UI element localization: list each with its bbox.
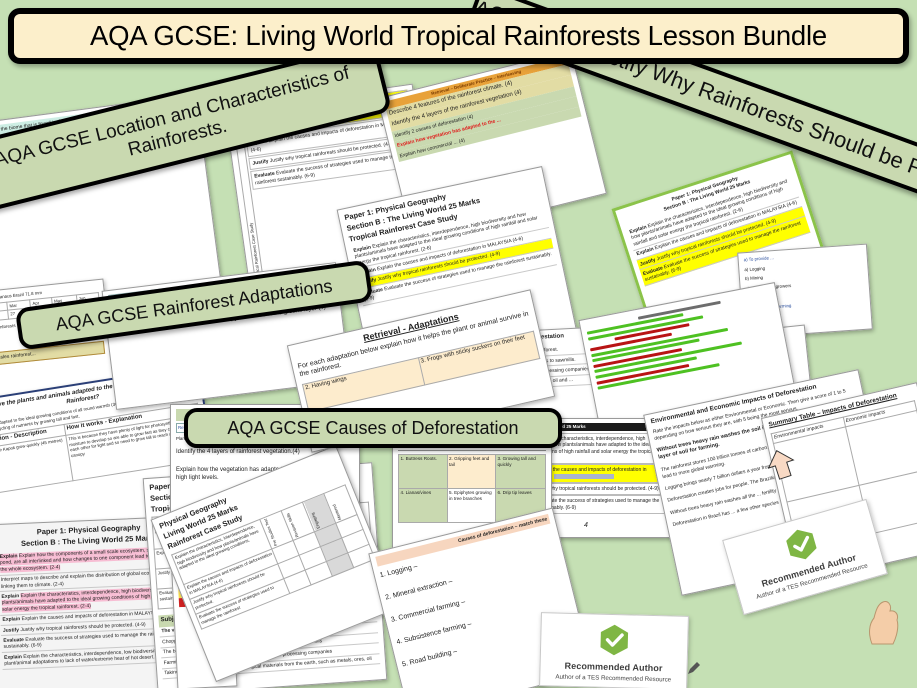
hexagon-check-icon xyxy=(597,623,632,658)
title-banner: AQA GCSE: Living World Tropical Rainfore… xyxy=(8,8,909,64)
hexagon-check-icon xyxy=(780,523,822,565)
spine-row-2: Justify why tropical rainforests should … xyxy=(533,486,658,492)
slide-canvas: 1. Identify the biome that is found in t… xyxy=(0,0,917,688)
badge-1-subtitle: Author of a TES Recommended Resource xyxy=(546,673,680,684)
adapt-cell-2: 3. Growing tall and quickly xyxy=(496,455,546,489)
adapt-cell-1: 2. Gripping feet and tail xyxy=(447,455,496,489)
banner-title: AQA GCSE: Living World Tropical Rainfore… xyxy=(90,20,827,52)
adapt-cell-3: 4. Lianas/vines xyxy=(399,489,448,523)
pencil-icon xyxy=(686,660,702,676)
adapt-cell-4: 5. Epiphytes growing in tree branches xyxy=(447,489,496,523)
adapt-cell-0: 1. Buttress Roots. xyxy=(399,455,448,489)
lesson-card-deforestation[interactable]: AQA GCSE Causes of Deforestation xyxy=(184,408,562,448)
recommended-author-badge-1: Recommended Author Author of a TES Recom… xyxy=(539,612,689,688)
badge-1-title: Recommended Author xyxy=(546,660,680,674)
adapt-r1c1: Trees in the Kapok grow quickly (45 metr… xyxy=(0,435,73,495)
lesson-card-deforestation-label: AQA GCSE Causes of Deforestation xyxy=(227,418,518,439)
hand-icon xyxy=(866,596,900,646)
